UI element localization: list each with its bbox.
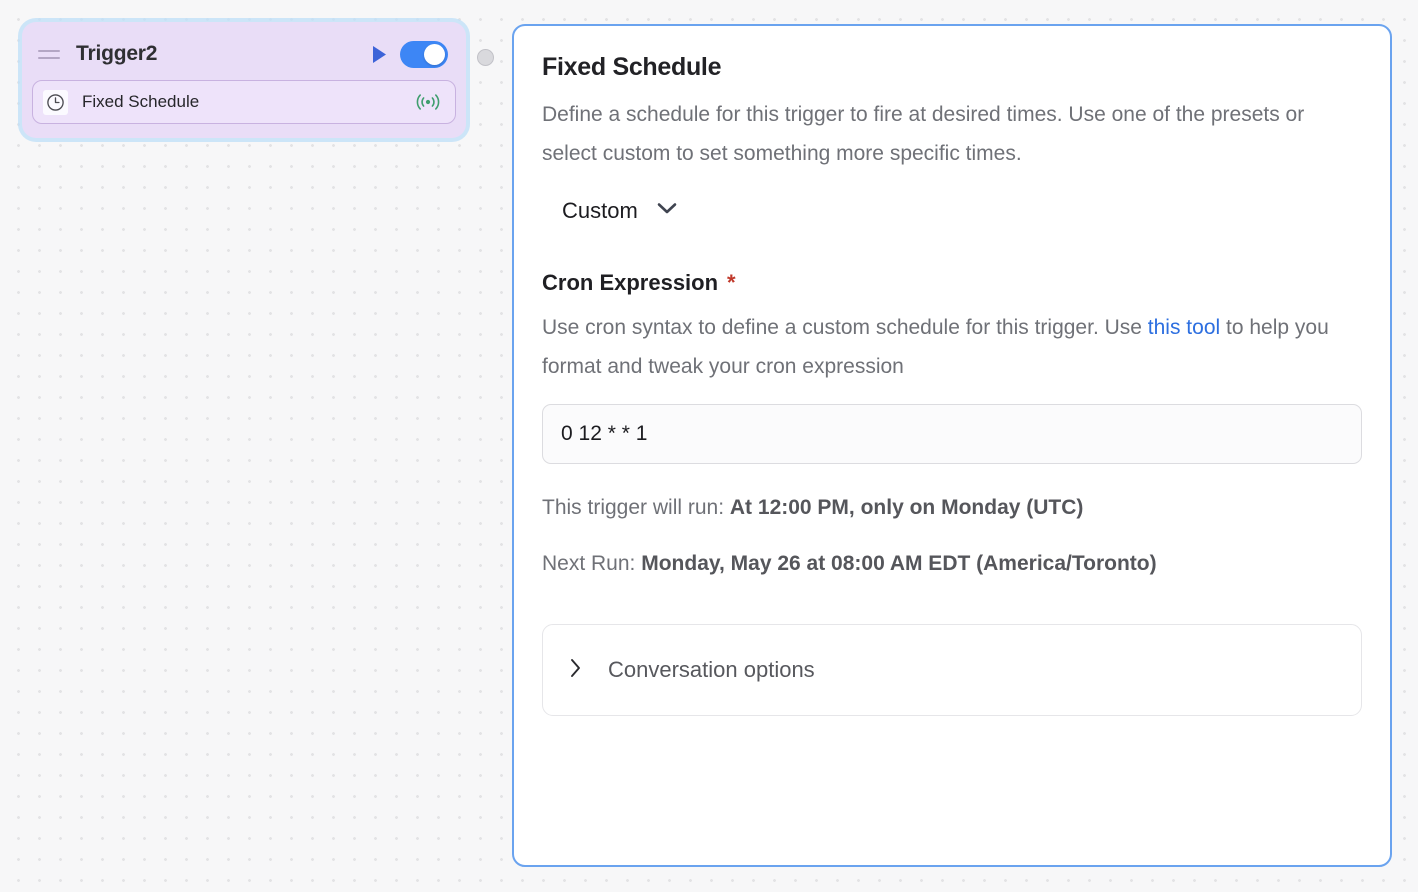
panel-title: Fixed Schedule bbox=[542, 52, 1362, 82]
schedule-preset-select[interactable]: Custom bbox=[562, 198, 678, 224]
drag-handle-line bbox=[38, 57, 60, 59]
drag-handle-line bbox=[38, 50, 60, 52]
trigger-enable-toggle[interactable] bbox=[400, 41, 448, 68]
cron-help-prefix: Use cron syntax to define a custom sched… bbox=[542, 316, 1148, 339]
chevron-right-icon bbox=[569, 657, 582, 684]
clock-icon bbox=[43, 90, 68, 115]
trigger-node[interactable]: Trigger2 Fixed Schedule bbox=[22, 22, 466, 138]
play-icon[interactable] bbox=[366, 41, 392, 67]
will-run-summary: This trigger will run: At 12:00 PM, only… bbox=[542, 496, 1362, 520]
trigger-subitem-label: Fixed Schedule bbox=[82, 92, 415, 112]
cron-expression-help: Use cron syntax to define a custom sched… bbox=[542, 309, 1362, 387]
drag-handle-icon[interactable] bbox=[38, 47, 60, 61]
conversation-options-accordion[interactable]: Conversation options bbox=[542, 624, 1362, 716]
trigger-node-header: Trigger2 bbox=[32, 32, 456, 76]
required-marker: * bbox=[727, 270, 736, 296]
next-run-value: Monday, May 26 at 08:00 AM EDT (America/… bbox=[641, 552, 1156, 575]
schedule-preset-value: Custom bbox=[562, 198, 638, 224]
will-run-label: This trigger will run: bbox=[542, 496, 730, 519]
will-run-value: At 12:00 PM, only on Monday (UTC) bbox=[730, 496, 1084, 519]
fixed-schedule-panel: Fixed Schedule Define a schedule for thi… bbox=[512, 24, 1392, 867]
trigger-node-title: Trigger2 bbox=[76, 42, 366, 66]
cron-expression-label: Cron Expression * bbox=[542, 270, 1362, 296]
panel-description: Define a schedule for this trigger to fi… bbox=[542, 96, 1362, 174]
conversation-options-label: Conversation options bbox=[608, 657, 815, 683]
next-run-label: Next Run: bbox=[542, 552, 641, 575]
chevron-down-icon bbox=[656, 201, 678, 220]
toggle-knob bbox=[424, 44, 445, 65]
connector-dot-icon[interactable] bbox=[477, 49, 494, 66]
next-run-summary: Next Run: Monday, May 26 at 08:00 AM EDT… bbox=[542, 552, 1362, 576]
trigger-node-card[interactable]: Trigger2 Fixed Schedule bbox=[22, 22, 466, 138]
trigger-subitem-fixed-schedule[interactable]: Fixed Schedule bbox=[32, 80, 456, 124]
cron-help-link[interactable]: this tool bbox=[1148, 316, 1220, 339]
cron-expression-label-text: Cron Expression bbox=[542, 270, 718, 296]
cron-expression-input[interactable] bbox=[542, 404, 1362, 464]
broadcast-signal-icon bbox=[415, 92, 441, 112]
